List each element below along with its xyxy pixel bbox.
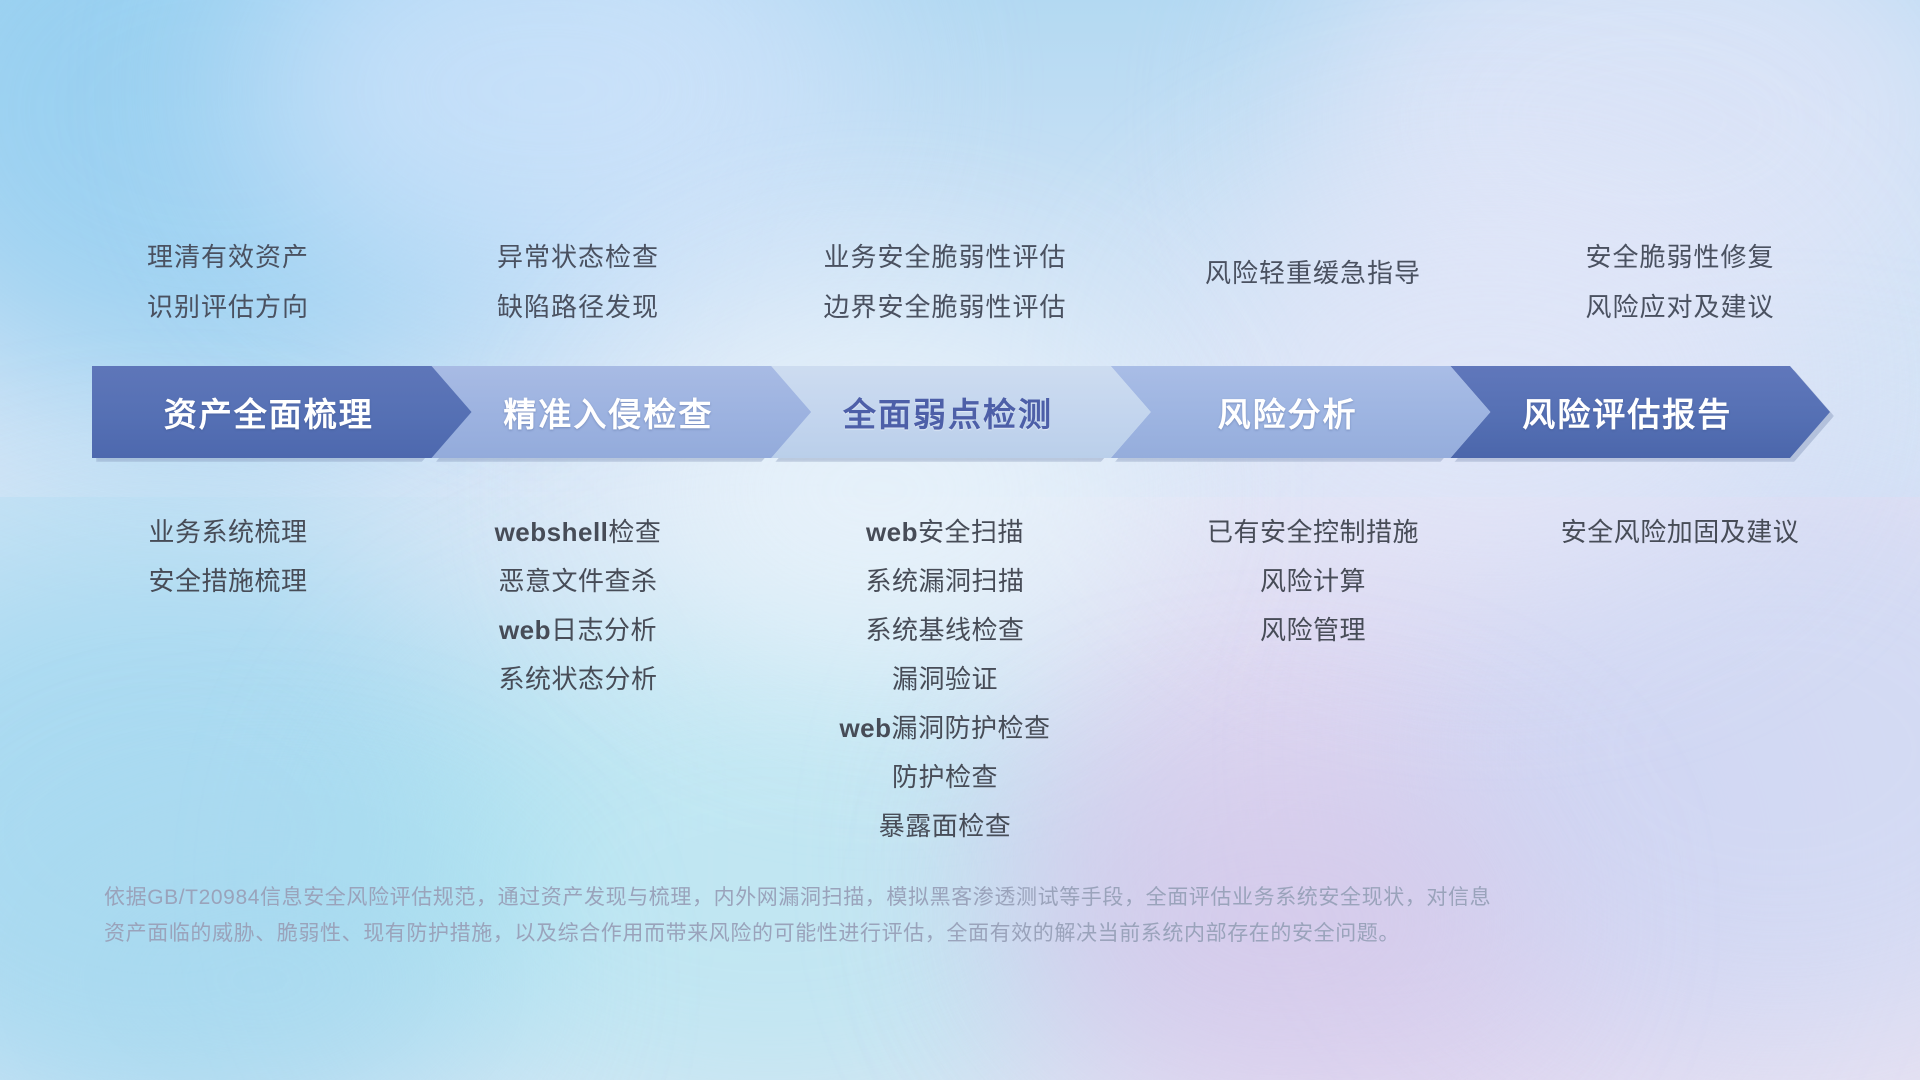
bottom-item-text: 漏洞防护检查 — [892, 713, 1051, 743]
bottom-item-emphasis: web — [499, 615, 551, 645]
chevron-stage-5[interactable]: 风险评估报告 — [1450, 366, 1830, 458]
bottom-item-text: 风险管理 — [1260, 615, 1366, 645]
stage-5-label: 风险评估报告 — [1450, 388, 1830, 436]
bottom-item-text: 检查 — [608, 517, 661, 547]
chevron-stage-2[interactable]: 精准入侵检查 — [432, 366, 812, 458]
stage-4-bottom-item: 风险计算 — [1053, 557, 1573, 606]
bottom-item-emphasis: web — [839, 713, 891, 743]
bottom-item-text: 风险计算 — [1260, 566, 1366, 596]
stage-4-label: 风险分析 — [1111, 388, 1491, 436]
bottom-item-text: 系统状态分析 — [498, 664, 657, 694]
diagram-content: 理清有效资产识别评估方向 异常状态检查缺陷路径发现 业务安全脆弱性评估边界安全脆… — [0, 0, 1920, 1080]
bottom-item-text: 业务系统梳理 — [148, 517, 307, 547]
stage-5-top-item: 安全脆弱性修复 — [1420, 232, 1920, 282]
bottom-item-text: 日志分析 — [551, 615, 657, 645]
footer-line-1: 依据GB/T20984信息安全风险评估规范，通过资产发现与梳理，内外网漏洞扫描，… — [104, 880, 1844, 916]
stage-1-label: 资产全面梳理 — [92, 388, 472, 436]
stage-5-top-item: 风险应对及建议 — [1420, 282, 1920, 332]
stage-3-bottom-item: 防护检查 — [685, 753, 1205, 802]
stage-5-top-items: 安全脆弱性修复风险应对及建议 — [1420, 232, 1920, 332]
bottom-item-text: 暴露面检查 — [879, 811, 1012, 841]
chevron-stage-1[interactable]: 资产全面梳理 — [92, 366, 472, 458]
stage-3-bottom-item: 暴露面检查 — [685, 802, 1205, 851]
chevron-stage-4[interactable]: 风险分析 — [1111, 366, 1491, 458]
stage-3-bottom-item: 漏洞验证 — [685, 655, 1205, 704]
stage-5-bottom-items: 安全风险加固及建议 — [1420, 508, 1920, 557]
bottom-item-text: 系统漏洞扫描 — [865, 566, 1024, 596]
footer-description: 依据GB/T20984信息安全风险评估规范，通过资产发现与梳理，内外网漏洞扫描，… — [104, 880, 1844, 952]
bottom-item-text: 漏洞验证 — [892, 664, 998, 694]
bottom-item-text: 系统基线检查 — [865, 615, 1024, 645]
footer-line-2: 资产面临的威胁、脆弱性、现有防护措施，以及综合作用而带来风险的可能性进行评估，全… — [104, 916, 1844, 952]
bottom-item-text: 安全措施梳理 — [148, 566, 307, 596]
bottom-item-text: 安全风险加固及建议 — [1561, 517, 1800, 547]
bottom-item-text: 已有安全控制措施 — [1207, 517, 1419, 547]
stage-3-label: 全面弱点检测 — [771, 388, 1151, 436]
stage-2-label: 精准入侵检查 — [432, 388, 812, 436]
bottom-item-text: 恶意文件查杀 — [498, 566, 657, 596]
stage-4-bottom-item: 风险管理 — [1053, 606, 1573, 655]
bottom-item-emphasis: webshell — [495, 517, 609, 547]
stage-5-bottom-item: 安全风险加固及建议 — [1420, 508, 1920, 557]
bottom-item-text: 安全扫描 — [918, 517, 1024, 547]
bottom-item-text: 防护检查 — [892, 762, 998, 792]
bottom-item-emphasis: web — [866, 517, 918, 547]
chevron-stage-3[interactable]: 全面弱点检测 — [771, 366, 1151, 458]
process-chevron-band: 资产全面梳理精准入侵检查全面弱点检测风险分析风险评估报告 — [92, 366, 1830, 458]
stage-3-bottom-item: web漏洞防护检查 — [685, 704, 1205, 753]
